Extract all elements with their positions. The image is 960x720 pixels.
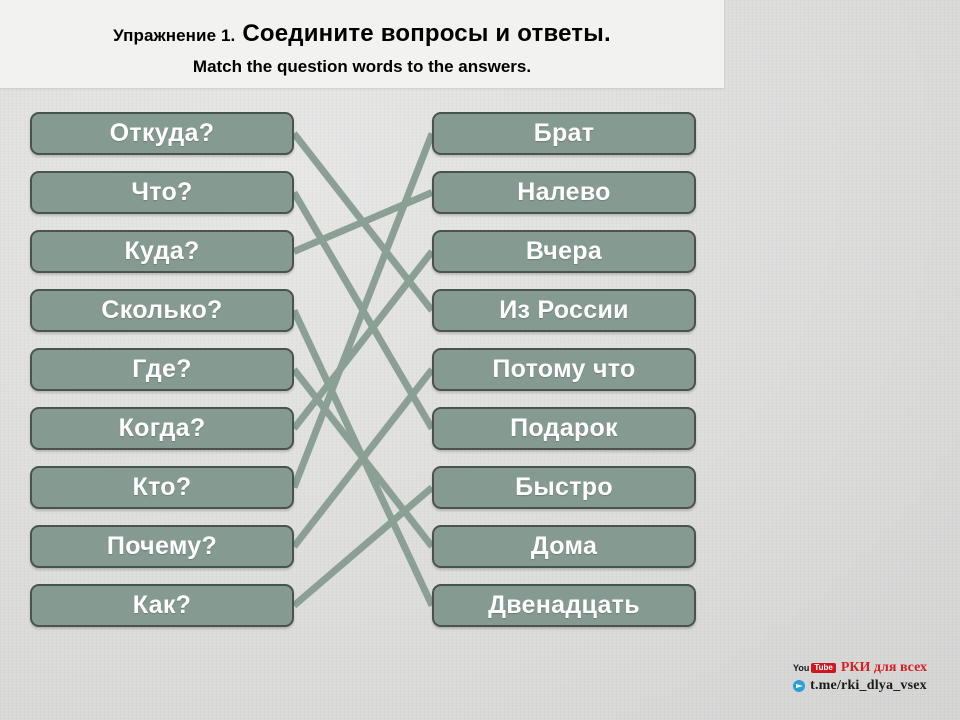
question-option-9[interactable]: Как?	[30, 584, 294, 627]
answer-option-5[interactable]: Потому что	[432, 348, 696, 391]
answer-option-label: Потому что	[492, 357, 635, 382]
question-option-1[interactable]: Откуда?	[30, 112, 294, 155]
youtube-icon: YouTube	[793, 663, 836, 673]
answer-option-1[interactable]: Брат	[432, 112, 696, 155]
connector-line-9	[294, 488, 432, 606]
telegram-icon	[793, 680, 805, 692]
question-option-label: Где?	[132, 357, 191, 382]
question-option-label: Откуда?	[110, 121, 215, 146]
question-option-8[interactable]: Почему?	[30, 525, 294, 568]
answer-option-label: Налево	[517, 180, 611, 205]
answer-option-9[interactable]: Двенадцать	[432, 584, 696, 627]
youtube-you-text: You	[793, 663, 809, 673]
answer-option-label: Дома	[531, 534, 597, 559]
answer-option-label: Подарок	[510, 416, 618, 441]
answer-option-label: Из России	[499, 298, 629, 323]
answer-option-4[interactable]: Из России	[432, 289, 696, 332]
question-option-label: Почему?	[107, 534, 217, 559]
youtube-tube-text: Tube	[811, 663, 836, 673]
answer-option-label: Двенадцать	[488, 593, 640, 618]
watermark: YouTube РКИ для всех t.me/rki_dlya_vsex	[770, 660, 950, 694]
answer-option-label: Брат	[534, 121, 595, 146]
watermark-telegram-row: t.me/rki_dlya_vsex	[770, 678, 950, 694]
question-option-label: Сколько?	[101, 298, 222, 323]
question-option-7[interactable]: Кто?	[30, 466, 294, 509]
channel-name: РКИ для всех	[841, 660, 927, 676]
connector-line-6	[294, 252, 432, 429]
question-option-4[interactable]: Сколько?	[30, 289, 294, 332]
answer-option-3[interactable]: Вчера	[432, 230, 696, 273]
watermark-channel-row: YouTube РКИ для всех	[770, 660, 950, 676]
answer-option-7[interactable]: Быстро	[432, 466, 696, 509]
answers-column: БратНалевоВчераИз РоссииПотому чтоПодаро…	[432, 112, 696, 643]
answer-option-label: Быстро	[515, 475, 613, 500]
slide-background: Упражнение 1.Соедините вопросы и ответы.…	[0, 0, 960, 720]
question-option-label: Что?	[131, 180, 192, 205]
answer-option-2[interactable]: Налево	[432, 171, 696, 214]
answer-option-6[interactable]: Подарок	[432, 407, 696, 450]
question-option-label: Куда?	[124, 239, 199, 264]
question-option-label: Кто?	[133, 475, 192, 500]
telegram-link: t.me/rki_dlya_vsex	[810, 678, 927, 694]
question-option-6[interactable]: Когда?	[30, 407, 294, 450]
questions-column: Откуда?Что?Куда?Сколько?Где?Когда?Кто?По…	[30, 112, 294, 643]
question-option-5[interactable]: Где?	[30, 348, 294, 391]
question-option-3[interactable]: Куда?	[30, 230, 294, 273]
question-option-label: Как?	[133, 593, 191, 618]
answer-option-label: Вчера	[526, 239, 602, 264]
question-option-2[interactable]: Что?	[30, 171, 294, 214]
question-option-label: Когда?	[119, 416, 206, 441]
answer-option-8[interactable]: Дома	[432, 525, 696, 568]
connector-line-7	[294, 134, 432, 488]
